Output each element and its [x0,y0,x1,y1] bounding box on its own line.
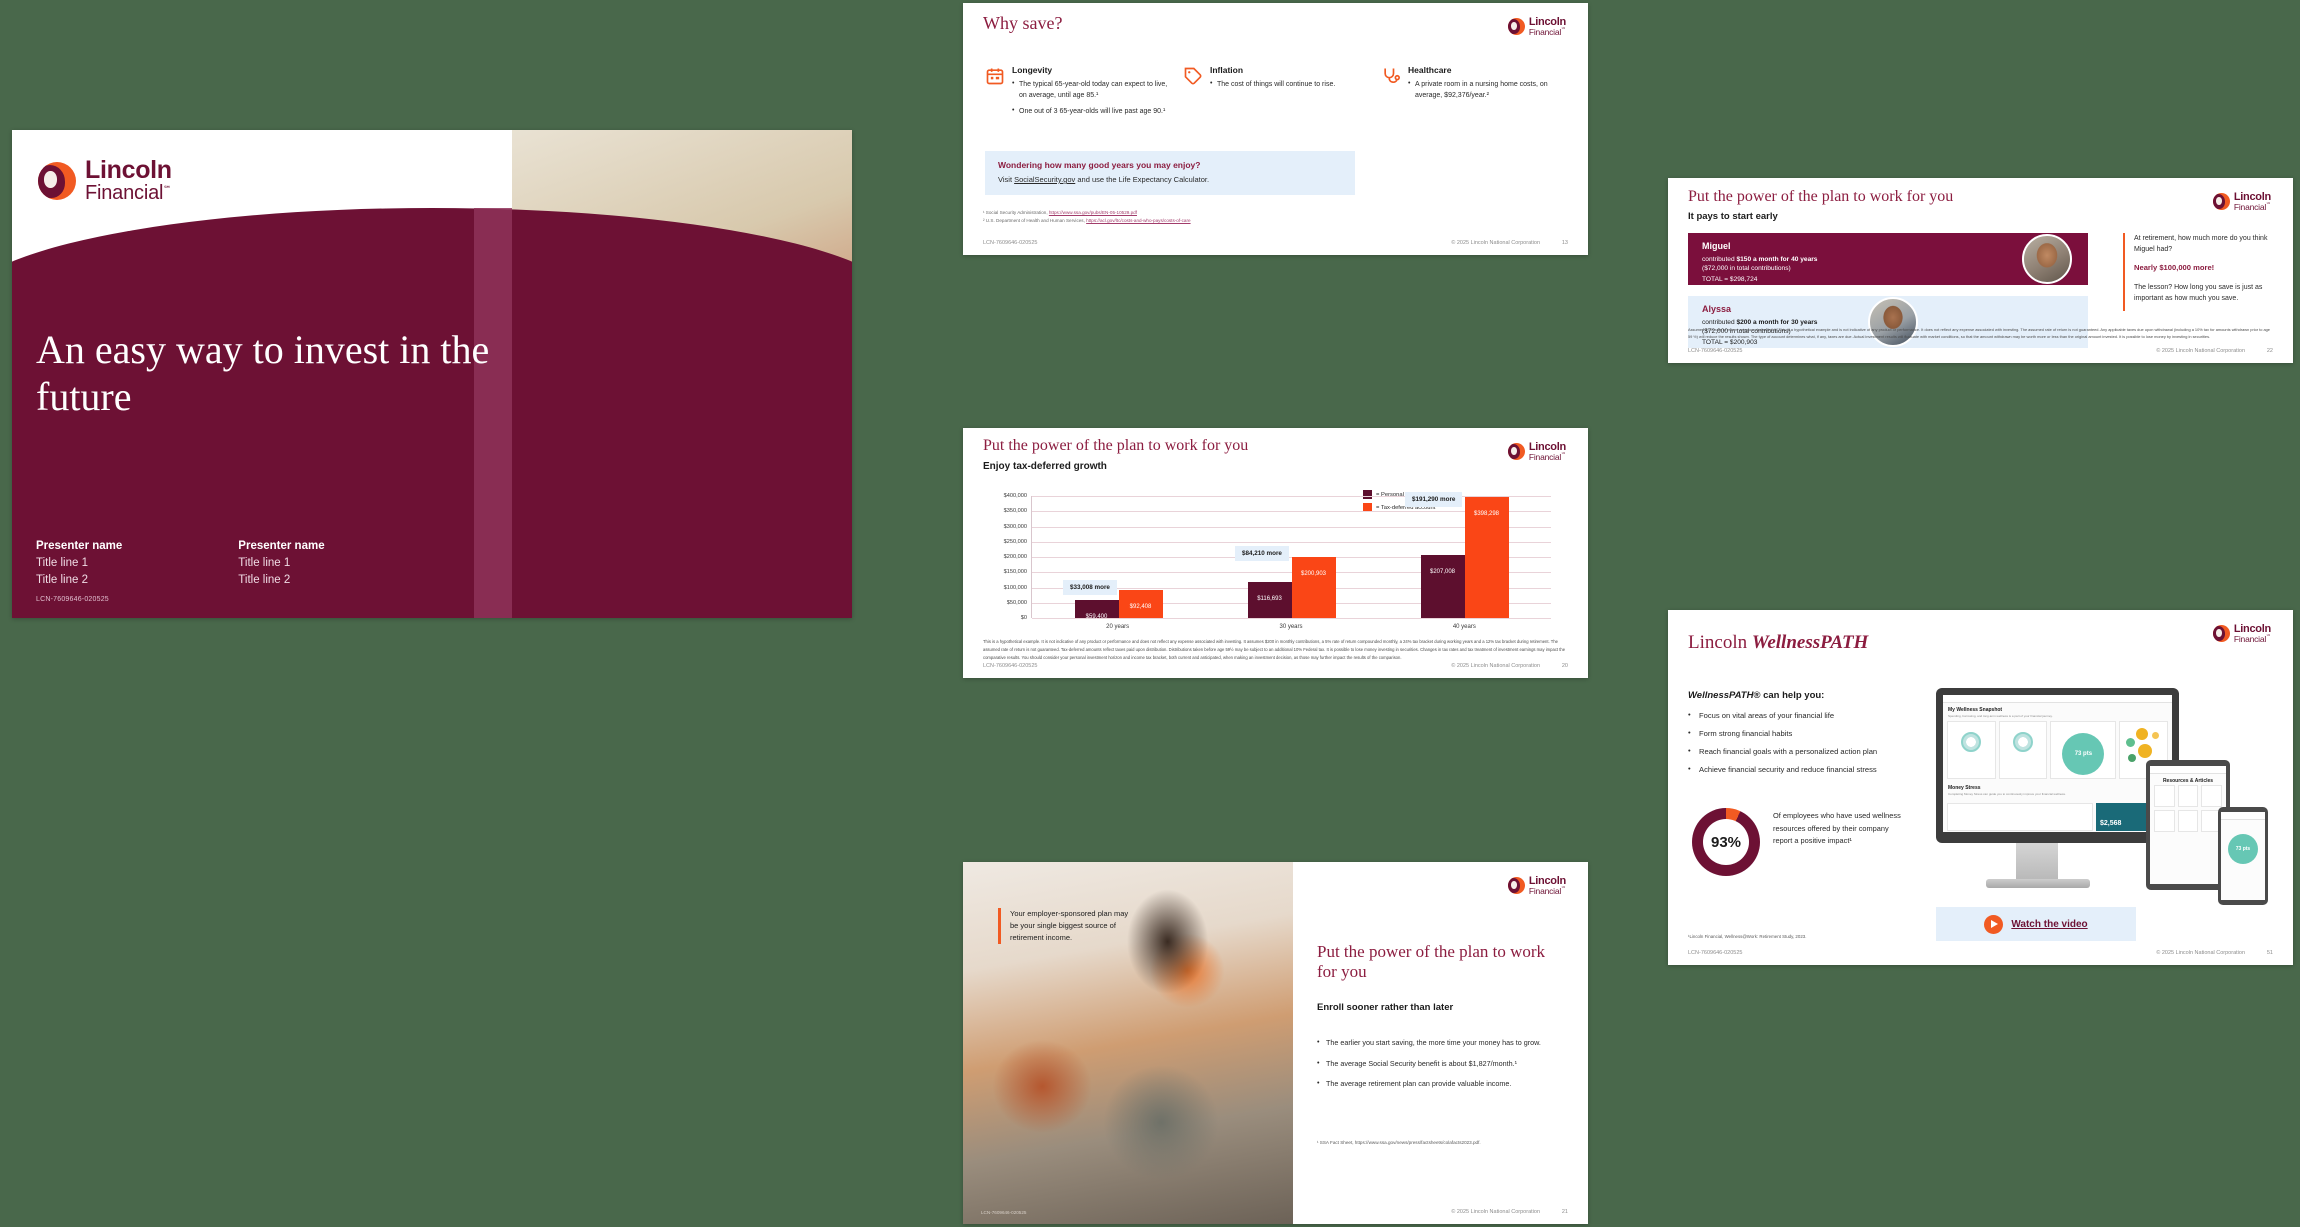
chart-x-axis-labels: 20 years 30 years 40 years [1031,624,1551,630]
aside-panel: At retirement, how much more do you thin… [2123,233,2278,311]
logo-wordmark: Lincoln Financial℠ [2234,192,2271,212]
x-label: 40 years [1378,624,1551,630]
presenter-block: Presenter name Title line 1 Title line 2… [36,540,325,590]
presenter-2-line2: Title line 2 [238,572,324,589]
bubble [2152,732,2159,739]
score-ring-icon [2013,732,2033,752]
bubble [2126,738,2135,747]
slide-disclaimer: Assumes a 6% rate of return, compounded … [1688,326,2273,340]
footnote-1: ¹ Social Security Administration, https:… [983,209,1523,217]
slide-why-save[interactable]: Lincoln Financial℠ Why save? Longevity T… [963,3,1588,255]
bubble [2136,728,2148,740]
phone-score: 73 pts [2228,834,2258,864]
y-axis-tick-label: $150,000 [1004,569,1032,575]
why-column-inflation: Inflation The cost of things will contin… [1183,65,1367,123]
resource-card [2201,785,2222,807]
resource-card [2154,810,2175,832]
app-subtitle: Spending, borrowing, and long-term welln… [1943,714,2172,721]
title-slide-heading: An easy way to invest in the future [36,326,496,420]
slide-title[interactable]: Lincoln Financial℠ An easy way to invest… [12,130,852,618]
phone-screen: 73 pts [2221,812,2265,900]
footer-copyright: © 2025 Lincoln National Corporation [2156,950,2245,956]
logo-line-2: Financial℠ [2234,635,2271,644]
persona-card-miguel: Miguel contributed $150 a month for 40 y… [1688,233,2088,285]
callout-text: Visit SocialSecurity.gov and use the Lif… [998,175,1342,184]
list-item: The average Social Security benefit is a… [1317,1058,1557,1070]
enroll-bullets: The earlier you start saving, the more t… [1317,1037,1557,1099]
footer-page-number: 20 [1562,663,1568,669]
y-axis-tick-label: $200,000 [1004,554,1032,560]
chart-plot-area: $0$50,000$100,000$150,000$200,000$250,00… [1031,496,1551,618]
bar-taxdeferred-30: $200,903 [1292,557,1336,618]
score-ring-icon [1961,732,1981,752]
persona-total-contrib: ($72,000 in total contributions) [1702,264,1791,274]
footnote-2-link[interactable]: https://acl.gov/ltc/costs-and-who-pays/c… [1086,218,1190,223]
desktop-monitor-mockup: My Wellness Snapshot Spending, borrowing… [1936,688,2179,843]
callout-box: Wondering how many good years you may en… [985,151,1355,195]
page-subtitle: Enjoy tax-deferred growth [983,461,1107,472]
stat-value: 93% [1711,834,1741,851]
presenter-2-line1: Title line 1 [238,555,324,572]
presenter-1-name: Presenter name [36,540,122,552]
list-item: The earlier you start saving, the more t… [1317,1037,1557,1049]
footer-lcn-code: LCN-7609646-020525 [983,240,1037,246]
logo-line-2: Financial℠ [85,183,172,203]
presenter-1-line2: Title line 2 [36,572,122,589]
footer-page-number: 13 [1562,240,1568,246]
y-axis-tick-label: $250,000 [1004,539,1032,545]
x-label: 20 years [1031,624,1204,630]
page-title: Put the power of the plan to work for yo… [1317,942,1547,983]
why-column-longevity: Longevity The typical 65-year-old today … [985,65,1169,123]
logo-line-2: Financial℠ [2234,203,2271,212]
lincoln-financial-logo: Lincoln Financial℠ [38,158,172,203]
logo-line-2: Financial℠ [1529,453,1566,462]
wellness-card [1947,721,1996,779]
enroll-content: Lincoln Financial℠ Put the power of the … [1303,862,1588,1224]
wellness-bullets: Focus on vital areas of your financial l… [1688,710,1903,783]
presenter-1-line1: Title line 1 [36,555,122,572]
logo-wordmark: Lincoln Financial℠ [2234,624,2271,644]
footer-page-number: 21 [1562,1209,1568,1215]
list-item: Reach financial goals with a personalize… [1688,746,1903,758]
amount-value: $2,568 [2100,820,2121,827]
why-bullets: The cost of things will continue to rise… [1210,80,1335,91]
lincoln-head-icon [2213,625,2230,642]
slide-enroll-sooner[interactable]: Your employer-sponsored plan may be your… [963,862,1588,1224]
list-item: Form strong financial habits [1688,728,1903,740]
stethoscope-icon [1381,66,1401,86]
bar-label: $92,408 [1119,604,1163,610]
lincoln-financial-logo: Lincoln Financial℠ [2213,192,2271,212]
family-photo: Your employer-sponsored plan may be your… [963,862,1293,1224]
total-wellness-card: 73 pts [2050,721,2116,779]
photo-lcn-code: LCN-7609646-020525 [981,1210,1026,1215]
logo-wordmark: Lincoln Financial℠ [85,158,172,203]
resource-card [2178,785,2199,807]
page-title: Put the power of the plan to work for yo… [1688,188,1953,206]
title-slide-lcn-code: LCN-7609646-020525 [36,596,109,603]
annotation-20-years: $33,008 more [1063,580,1117,595]
aside-question: At retirement, how much more do you thin… [2134,233,2278,255]
footer-copyright: © 2025 Lincoln National Corporation [2156,348,2245,354]
bar-group-30-years: $116,693 $200,903 [1205,496,1378,618]
aside-highlight: Nearly $100,000 more! [2134,262,2278,274]
persona-name: Miguel [1702,241,1731,251]
tablet-screen: Resources & Articles [2150,766,2226,884]
play-icon[interactable] [1984,915,2003,934]
slide-tax-deferred-growth[interactable]: Lincoln Financial℠ Put the power of the … [963,428,1588,678]
page-subtitle: It pays to start early [1688,211,1778,222]
why-heading: Longevity [1012,65,1169,75]
bar-label: $59,400 [1075,614,1119,620]
footer-lcn-code: LCN-7609646-020525 [1688,348,1742,354]
bar-group-40-years: $207,008 $398,298 [1378,496,1551,618]
lincoln-head-icon [1508,18,1525,35]
lincoln-head-icon [38,162,76,200]
why-column-healthcare: Healthcare A private room in a nursing h… [1381,65,1565,123]
slide-it-pays-to-start-early[interactable]: Lincoln Financial℠ Put the power of the … [1668,178,2293,363]
socialsecurity-link[interactable]: SocialSecurity.gov [1014,175,1075,184]
bar-taxdeferred-40: $398,298 [1465,497,1509,619]
chart-bars: $59,400 $92,408 $116,693 $200,903 $207,0… [1032,496,1551,618]
y-axis-tick-label: $100,000 [1004,585,1032,591]
why-bullets: The typical 65-year-old today can expect… [1012,80,1169,118]
money-stress-title: Money Stress [1943,779,2172,792]
footer-copyright: © 2025 Lincoln National Corporation [1451,663,1540,669]
wellness-card [1999,721,2048,779]
bar-personal-40: $207,008 [1421,555,1465,618]
slide-wellnesspath[interactable]: Lincoln Financial℠ Lincoln WellnessPATH … [1668,610,2293,965]
bar-taxdeferred-20: $92,408 [1119,590,1163,618]
why-bullets: A private room in a nursing home costs, … [1408,80,1565,102]
list-item: Achieve financial security and reduce fi… [1688,764,1903,776]
list-item: The cost of things will continue to rise… [1210,80,1335,91]
logo-line-2: Financial℠ [1529,28,1566,37]
logo-wordmark: Lincoln Financial℠ [1529,17,1566,37]
phone-mockup: 73 pts [2218,807,2268,905]
chart-disclaimer: This is a hypothetical example. It is no… [983,638,1568,661]
tablet-navbar [2150,766,2226,774]
presenter-2: Presenter name Title line 1 Title line 2 [238,540,324,590]
price-tag-icon [1183,66,1203,86]
y-axis-tick-label: $400,000 [1004,493,1032,499]
lincoln-financial-logo: Lincoln Financial℠ [1508,442,1566,462]
persona-total: TOTAL = $298,724 [1702,275,1757,285]
bar-label: $398,298 [1465,511,1509,517]
photo-quote-text: Your employer-sponsored plan may be your… [1010,908,1133,944]
tablet-card-grid [2150,785,2226,832]
footer-copyright: © 2025 Lincoln National Corporation [1451,1209,1540,1215]
app-navbar [1943,695,2172,703]
page-title: Put the power of the plan to work for yo… [983,437,1248,455]
bubble [2128,754,2136,762]
y-axis-tick-label: $50,000 [1007,600,1032,606]
lincoln-head-icon [1508,877,1525,894]
footnote-2: ² U.S. Department of Health and Human Se… [983,217,1523,225]
y-axis-tick-label: $350,000 [1004,508,1032,514]
app-card-grid: 73 pts [1943,721,2172,779]
footnote: ¹ SSA Fact Sheet, https://www.ssa.gov/ne… [1317,1140,1567,1145]
list-item: A private room in a nursing home costs, … [1408,80,1565,102]
why-save-columns: Longevity The typical 65-year-old today … [985,65,1565,123]
bar-label: $200,903 [1292,571,1336,577]
money-stress-sub: Completing Money Stress can guide you to… [1943,792,2172,799]
page-subtitle: Enroll sooner rather than later [1317,1002,1453,1013]
monitor-base [1986,879,2090,888]
footnote-1-link[interactable]: https://www.ssa.gov/pubs/EN-05-10529.pdf [1049,210,1137,215]
bubble [2138,744,2152,758]
bar-group-20-years: $59,400 $92,408 [1032,496,1205,618]
watch-video-link[interactable]: Watch the video [2011,919,2087,930]
y-axis-tick-label: $0 [1021,615,1032,621]
list-item: The average retirement plan can provide … [1317,1078,1557,1090]
logo-line-1: Lincoln [85,158,172,183]
list-item: One out of 3 65-year-olds will live past… [1012,107,1169,118]
resource-card [2154,785,2175,807]
footer-copyright: © 2025 Lincoln National Corporation [1451,240,1540,246]
logo-wordmark: Lincoln Financial℠ [1529,876,1566,896]
y-axis-tick-label: $300,000 [1004,524,1032,530]
photo-quote: Your employer-sponsored plan may be your… [998,908,1133,944]
page-title: Why save? [983,13,1062,34]
footer-page-number: 51 [2267,950,2273,956]
resource-card [2178,810,2199,832]
tablet-title: Resources & Articles [2150,774,2226,785]
why-heading: Healthcare [1408,65,1565,75]
bar-personal-20: $59,400 [1075,600,1119,618]
footer-panel [1947,803,2093,831]
persona-name: Alyssa [1702,304,1731,314]
app-footer-row: $2,568 [1943,799,2172,832]
calendar-icon [985,66,1005,86]
lincoln-financial-logo: Lincoln Financial℠ [2213,624,2271,644]
presenter-1: Presenter name Title line 1 Title line 2 [36,540,122,590]
logo-line-2: Financial℠ [1529,887,1566,896]
monitor-screen: My Wellness Snapshot Spending, borrowing… [1943,695,2172,832]
list-item: Focus on vital areas of your financial l… [1688,710,1903,722]
footnote: ¹Lincoln Financial, Wellness@Work: Retir… [1688,934,1806,939]
lincoln-head-icon [1508,443,1525,460]
logo-wordmark: Lincoln Financial℠ [1529,442,1566,462]
watch-video-banner[interactable]: Watch the video [1936,907,2136,941]
annotation-40-years: $191,290 more [1405,492,1462,507]
why-heading: Inflation [1210,65,1335,75]
x-label: 30 years [1204,624,1377,630]
total-wellness-score: 73 pts [2062,733,2104,775]
footer-lcn-code: LCN-7609646-020525 [983,663,1037,669]
lincoln-head-icon [2213,193,2230,210]
lincoln-financial-logo: Lincoln Financial℠ [1508,17,1566,37]
footer-lcn-code: LCN-7609646-020525 [1688,950,1742,956]
footer-page-number: 22 [2267,348,2273,354]
bar-personal-30: $116,693 [1248,582,1292,618]
callout-heading: Wondering how many good years you may en… [998,160,1342,170]
stat-donut-chart: 93% [1692,808,1760,876]
app-title: My Wellness Snapshot [1943,703,2172,714]
phone-navbar [2221,812,2265,820]
list-item: The typical 65-year-old today can expect… [1012,80,1169,102]
presenter-2-name: Presenter name [238,540,324,552]
wellness-heading: WellnessPATH® can help you: [1688,690,1824,701]
aside-lesson: The lesson? How long you save is just as… [2134,282,2278,304]
annotation-30-years: $84,210 more [1235,546,1289,561]
stat-description: Of employees who have used wellness reso… [1773,810,1908,848]
footnotes: ¹ Social Security Administration, https:… [983,209,1523,225]
bar-label: $116,693 [1248,596,1292,602]
monitor-stand [2016,843,2058,881]
avatar-miguel [2022,234,2072,284]
bar-label: $207,008 [1421,569,1465,575]
lincoln-financial-logo: Lincoln Financial℠ [1508,876,1566,896]
page-title: Lincoln WellnessPATH [1688,632,1868,654]
